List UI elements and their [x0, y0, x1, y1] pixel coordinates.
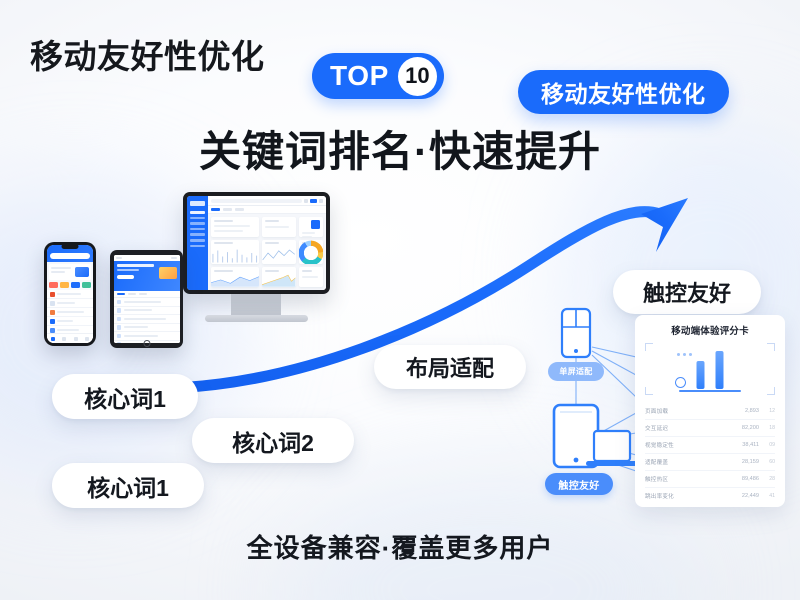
poster-canvas: 移动友好性优化 TOP 10 移动友好性优化 关键词排名·快速提升	[0, 0, 800, 600]
table-row: 页面加载 2,893 12	[645, 403, 775, 420]
table-row: 触控热区 89,486 28	[645, 471, 775, 488]
tablet-list-item	[114, 315, 180, 324]
tablet-list-item	[114, 324, 180, 333]
keyword-pill-3[interactable]: 核心词1	[52, 463, 204, 508]
chart-dot	[677, 353, 680, 356]
score-card-chart	[645, 343, 775, 395]
footer-tagline: 全设备兼容·覆盖更多用户	[0, 528, 800, 565]
phone-chip	[71, 282, 80, 288]
row-value: 2,893	[729, 408, 759, 414]
phone-chip-row	[47, 282, 93, 290]
tablet-list-item	[114, 307, 180, 316]
card-accent-block	[311, 220, 320, 229]
dashboard-sidebar	[187, 196, 208, 290]
dashboard-nav-item	[190, 228, 205, 231]
donut-chart-icon	[299, 240, 323, 264]
tablet-list-item	[114, 298, 180, 307]
touch-friendly-mini-pill: 触控友好	[545, 473, 613, 495]
row-delta: 28	[759, 476, 775, 482]
list-item-line	[57, 293, 82, 295]
dashboard-logo	[190, 201, 205, 206]
dashboard-card-bar-chart	[211, 240, 259, 265]
split-screen-mini-pill: 单屏适配	[548, 362, 604, 381]
phone-screen	[47, 245, 93, 343]
card-title-line	[214, 220, 233, 222]
tablet-outline-icon	[554, 405, 598, 467]
list-item-icon	[117, 334, 122, 339]
row-value: 82,200	[729, 425, 759, 431]
list-item-line	[57, 320, 73, 322]
dashboard-tab	[223, 208, 232, 210]
tabbar-icon	[74, 337, 78, 341]
list-item-line	[57, 329, 80, 331]
tablet-tab	[117, 293, 125, 295]
list-item-icon	[50, 319, 55, 324]
dashboard-tab	[235, 208, 244, 210]
row-delta: 09	[759, 442, 775, 448]
monitor-stand	[231, 294, 281, 316]
list-item-line	[124, 326, 148, 328]
dashboard-search-field	[211, 199, 302, 203]
row-delta: 12	[759, 408, 775, 414]
dashboard-widget-grid	[208, 214, 326, 290]
card-title-line	[265, 270, 278, 272]
chart-bar	[697, 361, 705, 389]
tablet-home-button	[143, 340, 150, 347]
dashboard-topbar-icon	[310, 199, 317, 203]
dashboard-nav-item	[190, 245, 205, 248]
mobile-score-card: 移动端体验评分卡 页面加载	[635, 315, 785, 507]
header-blue-pill: 移动友好性优化	[518, 70, 729, 114]
dashboard-topbar	[208, 196, 326, 206]
area-chart-icon	[262, 273, 295, 287]
phone-notch	[62, 244, 79, 249]
dashboard-topbar-icon	[304, 199, 308, 203]
list-item-icon	[50, 310, 55, 315]
dashboard-card-donut	[299, 240, 323, 265]
tablet-screen	[114, 255, 180, 343]
chart-dot	[683, 353, 686, 356]
tabbar-icon	[62, 337, 66, 341]
phone-tabbar	[47, 333, 93, 343]
dashboard-nav-item	[190, 217, 205, 220]
card-row-line	[214, 230, 243, 232]
chart-bar	[716, 351, 724, 389]
chart-corner-mark	[767, 343, 775, 351]
tablet-device	[110, 250, 183, 348]
chart-corner-mark	[767, 387, 775, 395]
chart-bars	[697, 347, 724, 389]
row-delta: 60	[759, 459, 775, 465]
card-row-line	[214, 225, 250, 227]
list-item-line	[124, 301, 161, 303]
list-item-line	[124, 309, 153, 311]
banner-line	[51, 267, 71, 269]
dashboard-topbar-icon	[319, 199, 323, 203]
bar-chart-icon	[211, 247, 259, 264]
desktop-monitor	[183, 192, 330, 294]
list-item-line	[124, 318, 166, 320]
dashboard-nav-item	[190, 239, 205, 242]
row-value: 89,486	[729, 476, 759, 482]
phone-outline-icon-small	[562, 309, 590, 357]
card-title-line	[302, 270, 312, 272]
list-item-line	[57, 311, 84, 313]
area-chart-icon	[211, 273, 259, 287]
dashboard-nav-item	[190, 222, 205, 225]
page-title: 关键词排名·快速提升	[0, 118, 800, 179]
table-row: 适配覆盖 28,159 60	[645, 454, 775, 471]
table-row: 视觉稳定性 38,411 09	[645, 437, 775, 454]
layout-adaptation-pill[interactable]: 布局适配	[374, 345, 526, 389]
line-chart-icon	[262, 247, 295, 264]
monitor-base	[205, 315, 308, 322]
card-row-line	[302, 236, 312, 237]
chart-dot	[689, 353, 692, 356]
chart-corner-mark	[645, 387, 653, 395]
tablet-tab	[139, 293, 147, 295]
keyword-pill-2[interactable]: 核心词2	[192, 418, 354, 463]
row-label: 页面加载	[645, 407, 729, 415]
keyword-pill-1[interactable]: 核心词1	[52, 374, 198, 419]
card-title-line	[214, 270, 233, 272]
phone-list-item	[47, 308, 93, 317]
dashboard-card-side	[299, 217, 323, 237]
phone-chip	[60, 282, 69, 288]
row-label: 交互延迟	[645, 424, 729, 432]
list-item-icon	[117, 300, 122, 305]
score-card-rows: 页面加载 2,893 12 交互延迟 82,200 18 视觉稳定性 38,41…	[645, 403, 775, 504]
list-item-line	[57, 302, 76, 304]
top-rank-badge: TOP 10	[312, 53, 444, 99]
phone-chip	[82, 282, 91, 288]
row-label: 触控热区	[645, 475, 729, 483]
chart-corner-mark	[645, 343, 653, 351]
tabbar-icon	[85, 337, 89, 341]
top-badge-word: TOP	[330, 62, 389, 90]
phone-list-item	[47, 299, 93, 308]
row-delta: 18	[759, 425, 775, 431]
header-kicker: 移动友好性优化	[30, 30, 265, 78]
tablet-tabs	[114, 291, 180, 298]
row-value: 28,159	[729, 459, 759, 465]
dashboard-card-area-3	[299, 267, 323, 287]
list-item-icon	[117, 317, 122, 322]
list-item-icon	[117, 308, 122, 313]
statusbar-item	[116, 257, 122, 259]
phone-banner	[49, 264, 91, 280]
row-value: 22,449	[729, 493, 759, 499]
row-value: 38,411	[729, 442, 759, 448]
hero-title-line	[117, 264, 154, 267]
chart-pin-icon	[675, 377, 686, 388]
chart-dots	[677, 353, 692, 356]
card-title-line	[265, 220, 278, 222]
device-cluster	[28, 192, 328, 357]
card-row-line	[265, 226, 288, 228]
dashboard-card-area-2	[262, 267, 295, 287]
list-item-icon	[50, 292, 55, 297]
chart-baseline	[679, 390, 741, 392]
list-item-line	[124, 335, 159, 337]
score-card-title: 移动端体验评分卡	[645, 323, 775, 337]
table-row: 交互延迟 82,200 18	[645, 420, 775, 437]
dashboard-tab	[211, 208, 220, 210]
dashboard-card-filters	[211, 217, 259, 237]
top-badge-number: 10	[398, 57, 437, 96]
dashboard-card-stats	[262, 217, 295, 237]
phone-search-field	[50, 253, 90, 259]
mobile-diagram-panel: 单屏适配 触控友好 移动端体验评分卡	[540, 305, 790, 515]
card-title-line	[214, 242, 233, 244]
list-item-icon	[50, 301, 55, 306]
hero-sub-line	[117, 269, 140, 271]
dashboard-card-line-chart	[262, 240, 295, 265]
dashboard-tabs	[208, 206, 326, 214]
dashboard-nav-item	[190, 211, 205, 214]
list-item-icon	[50, 328, 55, 333]
row-label: 视觉稳定性	[645, 441, 729, 449]
statusbar-item	[171, 257, 177, 259]
smartphone-device	[44, 242, 96, 346]
laptop-outline-icon	[586, 431, 638, 466]
phone-list-item	[47, 290, 93, 299]
hero-cta-button	[117, 275, 134, 279]
list-item-icon	[117, 325, 122, 330]
dashboard-card-area-1	[211, 267, 259, 287]
card-row-line	[302, 276, 318, 278]
tablet-hero-banner	[114, 261, 180, 291]
phone-list-item	[47, 317, 93, 326]
dashboard-nav-item	[190, 233, 205, 236]
row-label: 适配覆盖	[645, 458, 729, 466]
banner-line	[51, 271, 65, 273]
hero-illustration	[159, 267, 177, 279]
list-item-icon	[117, 342, 122, 343]
phone-chip	[49, 282, 58, 288]
dashboard-main	[208, 196, 326, 290]
row-label: 跳出率变化	[645, 492, 729, 500]
tablet-tab	[128, 293, 136, 295]
tabbar-icon	[51, 337, 55, 341]
card-row-line	[302, 232, 315, 234]
header: 移动友好性优化 TOP 10 移动友好性优化	[0, 22, 800, 86]
card-title-line	[265, 242, 278, 244]
banner-illustration	[75, 267, 89, 277]
desktop-screen	[187, 196, 326, 290]
row-delta: 41	[759, 493, 775, 499]
table-row: 跳出率变化 22,449 41	[645, 488, 775, 504]
